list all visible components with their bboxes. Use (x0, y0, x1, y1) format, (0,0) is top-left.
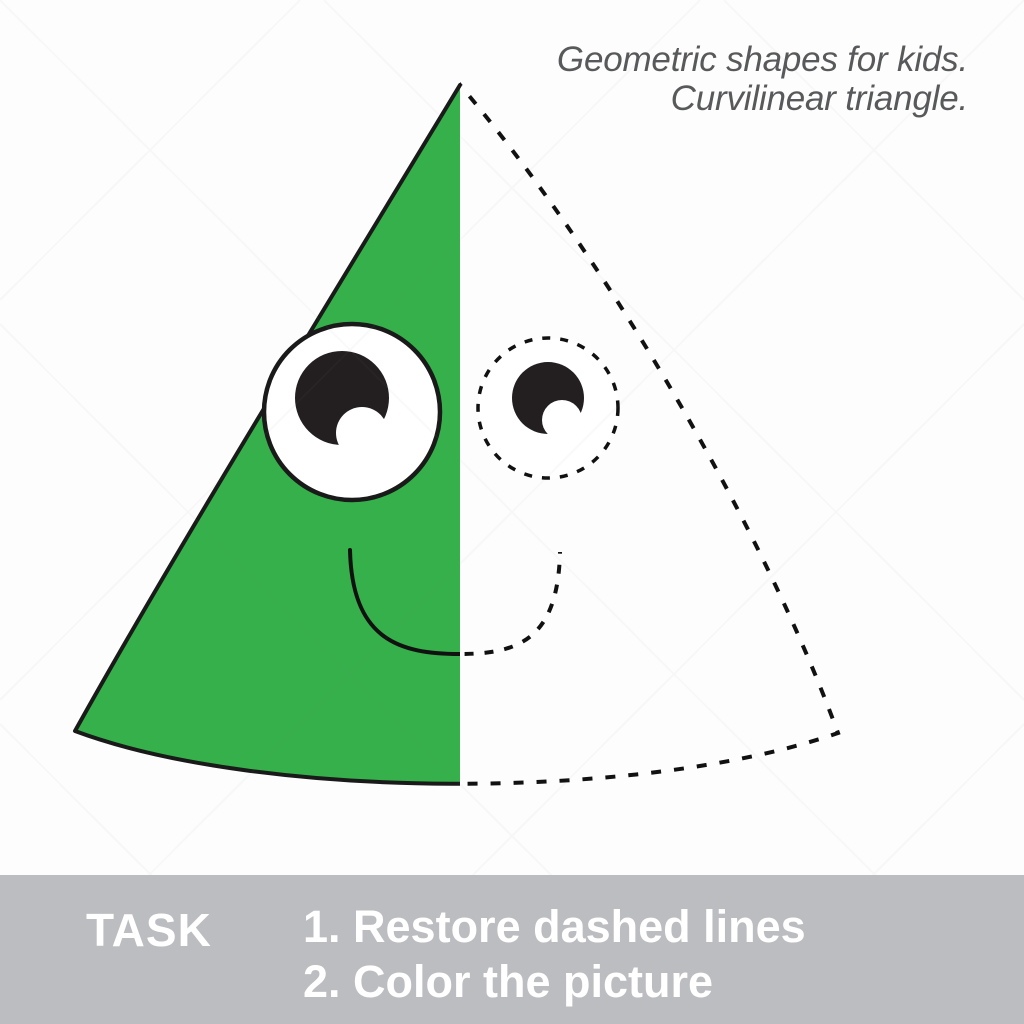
task-step-1: 1. Restore dashed lines (303, 900, 806, 955)
title-line-1: Geometric shapes for kids. (557, 40, 968, 79)
right-eye-highlight (542, 400, 582, 440)
title-line-2: Curvilinear triangle. (557, 79, 968, 118)
curvilinear-triangle-artwork (0, 0, 1024, 880)
right-eye (478, 338, 618, 478)
task-label: TASK (86, 903, 212, 957)
task-step-list: 1. Restore dashed lines 2. Color the pic… (303, 900, 806, 1010)
left-eye (264, 324, 440, 500)
worksheet-page: Geometric shapes for kids. Curvilinear t… (0, 0, 1024, 1024)
task-step-2: 2. Color the picture (303, 955, 806, 1010)
left-eye-highlight (336, 407, 388, 459)
page-title: Geometric shapes for kids. Curvilinear t… (557, 40, 968, 118)
shape-green-half (75, 85, 838, 784)
